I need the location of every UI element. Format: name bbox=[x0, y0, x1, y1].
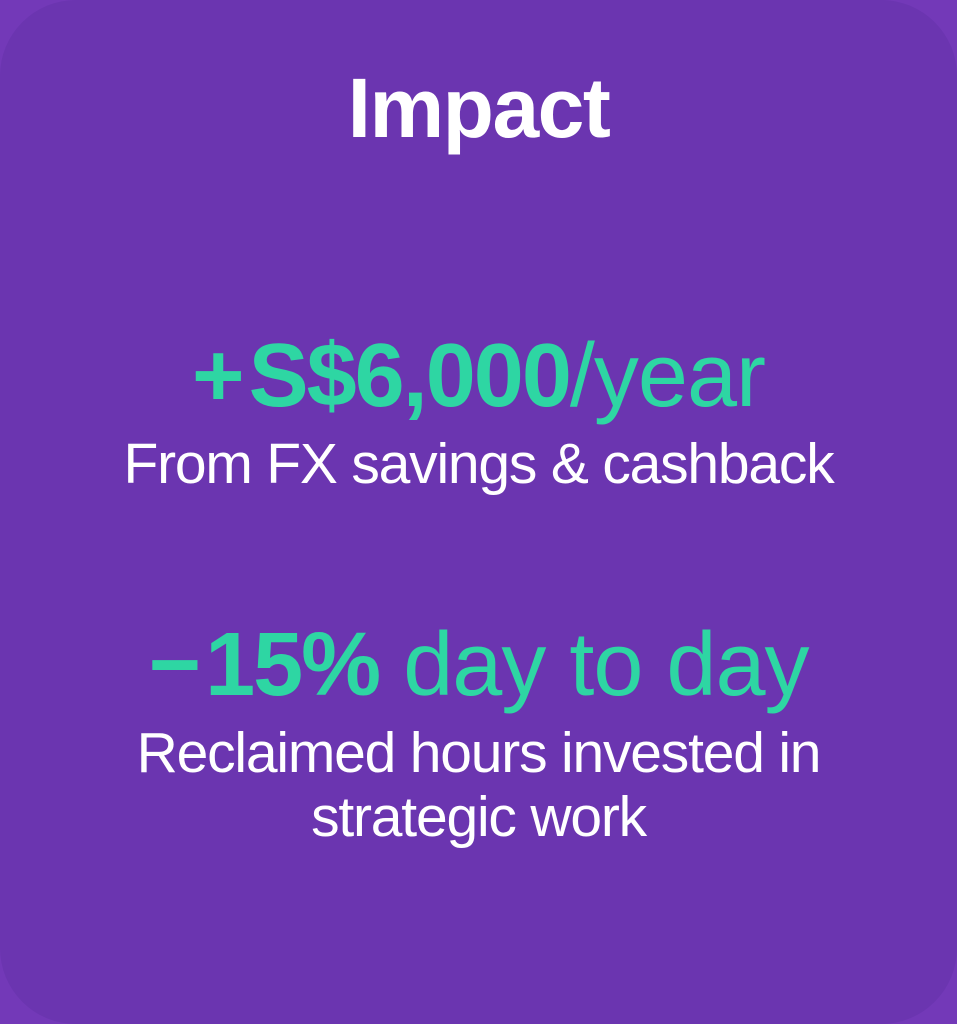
stat-headline: −15% day to day bbox=[52, 617, 905, 714]
stat-unit: day to day bbox=[379, 615, 808, 715]
stats-list: +S$6,000/year From FX savings & cashback… bbox=[52, 152, 905, 850]
stat-sign-plus-icon: + bbox=[192, 328, 243, 425]
stat-value: S$6,000 bbox=[249, 326, 570, 426]
stat-block-fx-savings: +S$6,000/year From FX savings & cashback bbox=[52, 328, 905, 497]
stat-caption: Reclaimed hours invested in strategic wo… bbox=[84, 722, 874, 850]
stat-caption: From FX savings & cashback bbox=[84, 433, 874, 497]
stat-headline: +S$6,000/year bbox=[52, 328, 905, 425]
stage: Impact +S$6,000/year From FX savings & c… bbox=[0, 0, 957, 1024]
stat-block-time-saved: −15% day to day Reclaimed hours invested… bbox=[52, 617, 905, 850]
stat-sign-minus-icon: − bbox=[149, 617, 200, 714]
stat-unit: /year bbox=[570, 326, 765, 426]
page-title: Impact bbox=[348, 0, 610, 152]
stat-value: 15% bbox=[205, 615, 379, 715]
impact-card: Impact +S$6,000/year From FX savings & c… bbox=[0, 0, 957, 1024]
